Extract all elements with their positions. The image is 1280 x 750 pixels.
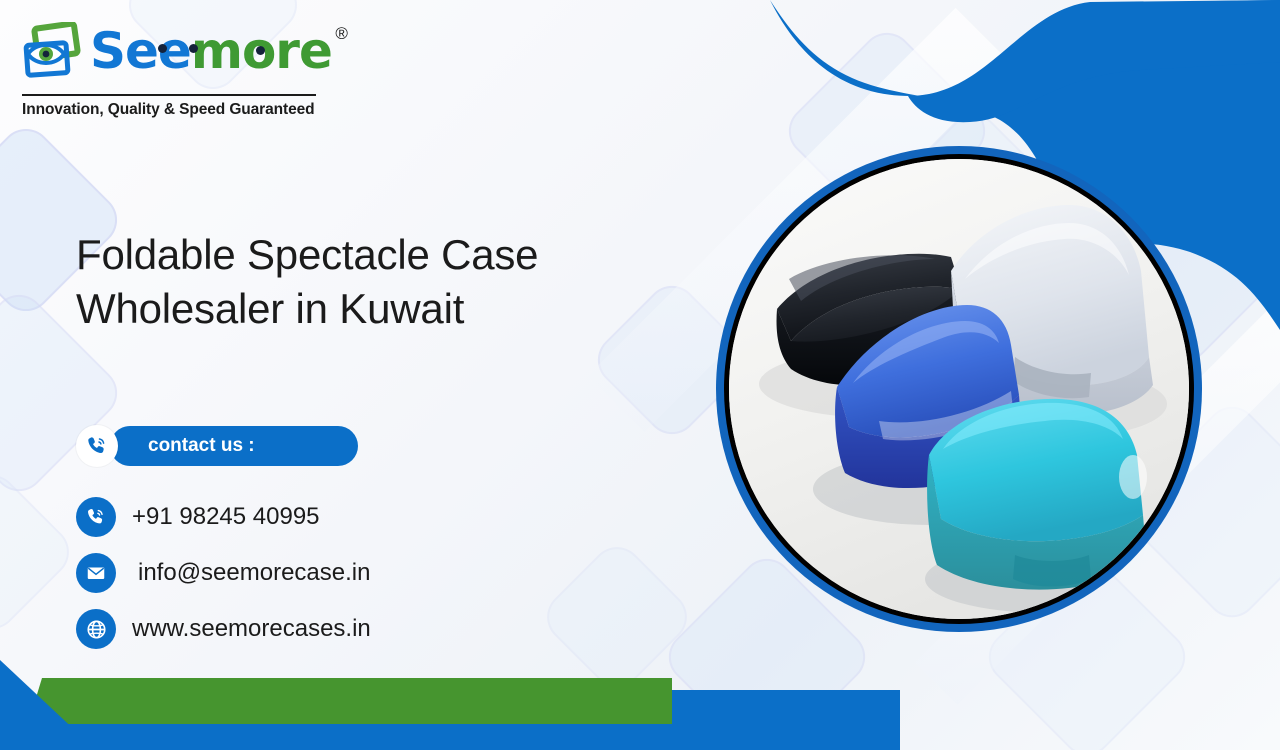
contact-details: +91 98245 40995 info@seemorecase.in — [76, 489, 371, 657]
envelope-glyph — [85, 562, 107, 584]
headline-line-1: Foldable Spectacle Case — [76, 228, 636, 282]
website-url: www.seemorecases.in — [132, 615, 371, 643]
contact-row-website[interactable]: www.seemorecases.in — [76, 601, 371, 657]
phone-icon — [76, 425, 118, 467]
globe-glyph — [85, 618, 108, 641]
product-image-circle — [716, 146, 1202, 632]
logo-text-see: See — [90, 22, 191, 80]
logo-eye-dot — [158, 44, 167, 53]
phone-glyph — [85, 434, 109, 458]
spectacle-cases-illustration — [729, 159, 1189, 619]
phone-glyph — [85, 506, 107, 528]
brand-logo: Seemore ® Innovation, Quality & Speed Gu… — [22, 22, 322, 119]
decor-square — [0, 464, 80, 639]
brand-tagline: Innovation, Quality & Speed Guaranteed — [22, 101, 322, 119]
bottom-left-wedge — [0, 654, 210, 750]
headline-line-2: Wholesaler in Kuwait — [76, 282, 636, 336]
phone-number: +91 98245 40995 — [132, 503, 320, 531]
email-icon — [76, 553, 116, 593]
product-photo — [729, 159, 1189, 619]
logo-eye-dot — [256, 46, 265, 55]
email-address: info@seemorecase.in — [138, 559, 370, 587]
logo-divider — [22, 94, 316, 96]
globe-icon — [76, 609, 116, 649]
contact-us-label: contact us : — [148, 435, 255, 457]
contact-us-badge: contact us : — [76, 426, 255, 466]
promo-banner: Seemore ® Innovation, Quality & Speed Gu… — [0, 0, 1280, 750]
contact-row-email[interactable]: info@seemorecase.in — [76, 545, 371, 601]
eye-in-frame-icon — [22, 22, 84, 84]
logo-eye-dot — [189, 44, 198, 53]
page-title: Foldable Spectacle Case Wholesaler in Ku… — [76, 228, 636, 336]
registered-trademark-icon: ® — [335, 24, 348, 44]
contact-row-phone[interactable]: +91 98245 40995 — [76, 489, 371, 545]
phone-icon — [76, 497, 116, 537]
